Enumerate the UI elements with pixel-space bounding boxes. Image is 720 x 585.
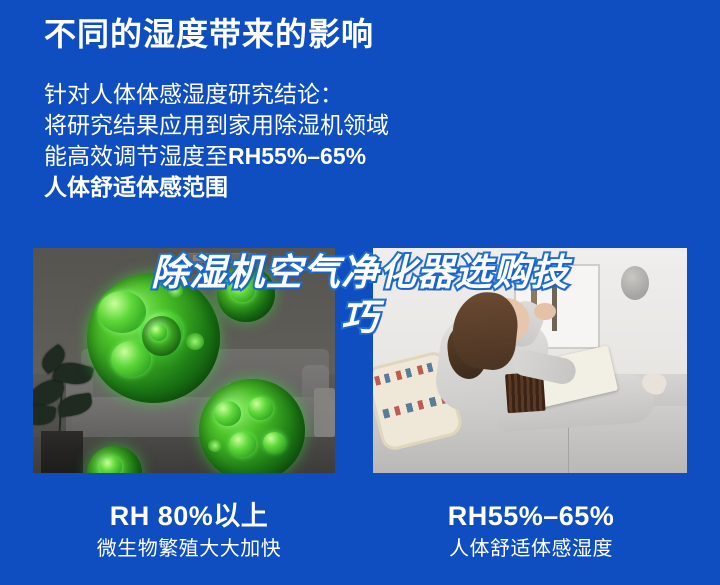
page-title: 不同的湿度带来的影响 — [44, 16, 374, 53]
photo-row — [33, 248, 687, 473]
woman-hand — [534, 303, 556, 321]
dark-room-illustration — [33, 248, 335, 473]
intro-line-1: 针对人体体感湿度研究结论： — [44, 79, 389, 110]
caption-right-subtitle: 人体舒适体感湿度 — [366, 537, 696, 562]
photo-left-high-humidity — [33, 248, 335, 473]
intro-line-4: 人体舒适体感范围 — [44, 172, 389, 203]
microbe-blob — [217, 266, 274, 322]
plant-pot — [41, 431, 83, 473]
photo-right-comfort-humidity — [373, 248, 687, 473]
intro-line-2: 将研究结果应用到家用除湿机领域 — [44, 110, 389, 141]
caption-left: RH 80%以上 微生物繁殖大大加快 — [24, 500, 354, 562]
bright-room-illustration — [373, 248, 687, 473]
intro-line-3: 能高效调节湿度至RH55%–65% — [44, 141, 389, 172]
caption-right-title: RH55%–65% — [366, 500, 696, 533]
caption-left-subtitle: 微生物繁殖大大加快 — [24, 537, 354, 562]
microbe-blob — [142, 316, 181, 357]
intro-line-3-highlight: RH55%–65% — [228, 143, 366, 169]
microbe-blob — [199, 379, 305, 474]
wall-frame — [187, 253, 256, 263]
caption-right: RH55%–65% 人体舒适体感湿度 — [366, 500, 696, 562]
intro-paragraph: 针对人体体感湿度研究结论： 将研究结果应用到家用除湿机领域 能高效调节湿度至RH… — [44, 79, 389, 203]
woman-reading — [414, 298, 659, 474]
wall-speaker — [621, 266, 649, 300]
poster-root: 不同的湿度带来的影响 针对人体体感湿度研究结论： 将研究结果应用到家用除湿机领域… — [0, 0, 720, 585]
caption-left-title: RH 80%以上 — [24, 500, 354, 533]
plant-leaf — [33, 403, 55, 427]
intro-line-3-prefix: 能高效调节湿度至 — [44, 143, 228, 169]
side-table — [314, 388, 335, 438]
